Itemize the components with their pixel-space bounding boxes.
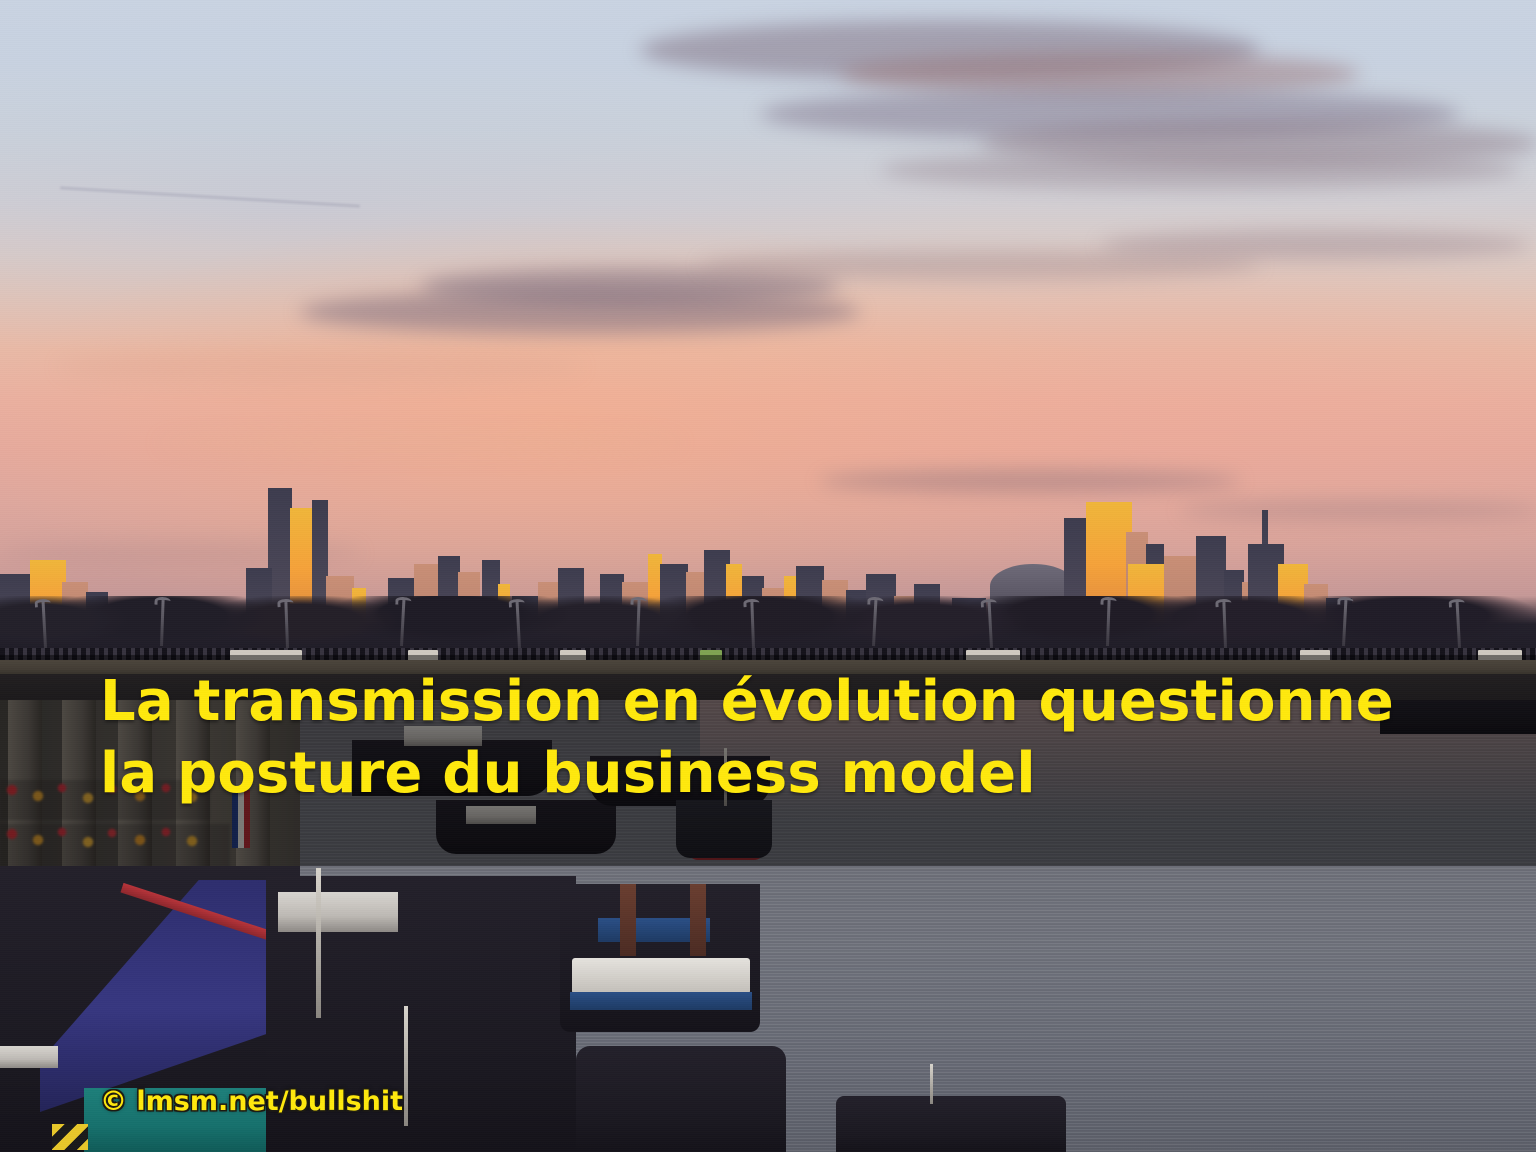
barge-funnel <box>620 884 636 956</box>
boat-mast <box>404 1006 408 1126</box>
barge-name-board <box>572 958 750 994</box>
title-line-2: la posture du business model <box>100 738 1430 810</box>
moored-barge <box>836 1096 1066 1152</box>
moored-barge <box>576 1046 786 1152</box>
hazard-marker <box>52 1124 88 1150</box>
photo-slide: La transmission en évolution questionne … <box>0 0 1536 1152</box>
boat-mast <box>316 868 321 1018</box>
boat-cabin <box>0 1046 58 1068</box>
copyright-watermark: © lmsm.net/bullshit <box>100 1086 403 1118</box>
barge-funnel <box>690 884 706 956</box>
boat-mast <box>930 1064 933 1104</box>
barge-hull-stripe <box>570 992 752 1010</box>
boat-cabin <box>278 892 398 932</box>
title-line-1: La transmission en évolution questionne <box>100 666 1430 738</box>
la-defense-towers <box>0 0 1536 660</box>
page-title: La transmission en évolution questionne … <box>100 666 1430 810</box>
